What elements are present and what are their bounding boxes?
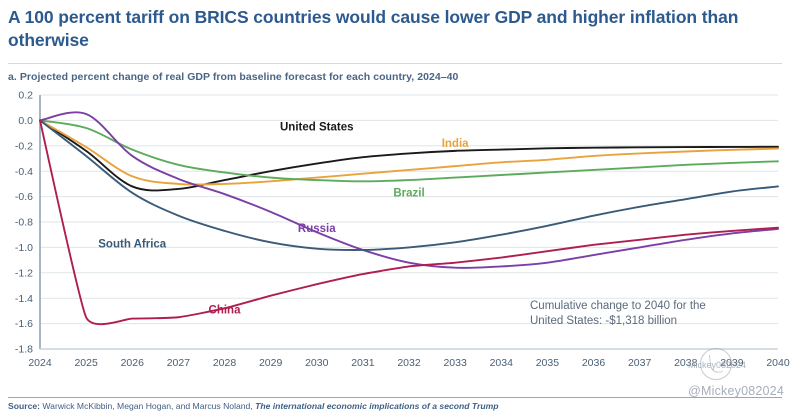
chart-header: A 100 percent tariff on BRICS countries … [0, 0, 790, 53]
annotation-line-1: Cumulative change to 2040 for the [530, 300, 706, 312]
x-tick-label: 2027 [167, 357, 191, 369]
y-tick-label: -0.8 [15, 216, 33, 228]
x-tick-label: 2031 [351, 357, 375, 369]
y-tick-label: 0.2 [18, 89, 33, 101]
x-tick-label: 2030 [305, 357, 329, 369]
chart-plot-area: 0.20.0-0.2-0.4-0.6-0.8-1.0-1.2-1.4-1.6-1… [0, 87, 790, 387]
panel-subtitle: a. Projected percent change of real GDP … [0, 64, 790, 83]
x-tick-label: 2024 [28, 357, 52, 369]
series-label-united-states: United States [280, 121, 354, 133]
line-chart-svg: 0.20.0-0.2-0.4-0.6-0.8-1.0-1.2-1.4-1.6-1… [0, 87, 790, 387]
series-label-russia: Russia [298, 223, 336, 235]
x-tick-label: 2037 [628, 357, 652, 369]
page-title: A 100 percent tariff on BRICS countries … [8, 6, 778, 53]
x-tick-label: 2036 [582, 357, 606, 369]
y-tick-label: -0.2 [15, 140, 33, 152]
source-title: The international economic implications … [255, 401, 498, 411]
x-tick-label: 2034 [490, 357, 514, 369]
x-tick-label: 2032 [397, 357, 421, 369]
y-tick-label: -1.6 [15, 318, 33, 330]
series-label-south-africa: South Africa [98, 238, 167, 250]
y-tick-label: -1.8 [15, 343, 33, 355]
x-tick-label: 2033 [443, 357, 467, 369]
source-note: Source: Warwick McKibbin, Megan Hogan, a… [0, 398, 790, 412]
x-tick-label: 2028 [213, 357, 237, 369]
cumulative-change-annotation: Cumulative change to 2040 for theUnited … [530, 300, 706, 327]
series-label-brazil: Brazil [393, 187, 424, 199]
x-tick-label: 2035 [536, 357, 560, 369]
x-axis-ticks: 2024202520262027202820292030203120322033… [28, 357, 790, 369]
series-line-south-africa [40, 120, 778, 250]
x-tick-label: 2040 [766, 357, 790, 369]
series-label-china: China [209, 304, 242, 316]
chart-footer: Source: Warwick McKibbin, Megan Hogan, a… [0, 397, 790, 412]
annotation-line-2: United States: -$1,318 billion [530, 315, 677, 327]
y-tick-label: 0.0 [18, 115, 33, 127]
y-tick-label: -1.4 [15, 292, 33, 304]
y-tick-label: -0.6 [15, 191, 33, 203]
y-tick-label: -0.4 [15, 165, 33, 177]
data-series-lines [40, 112, 778, 324]
y-tick-label: -1.2 [15, 267, 33, 279]
x-tick-label: 2038 [674, 357, 698, 369]
x-tick-label: 2029 [259, 357, 283, 369]
series-inline-labels: United StatesIndiaBrazilRussiaSouth Afri… [98, 121, 469, 316]
series-label-india: India [442, 138, 469, 150]
y-axis-ticks: 0.20.0-0.2-0.4-0.6-0.8-1.0-1.2-1.4-1.6-1… [15, 89, 33, 355]
x-tick-label: 2026 [121, 357, 145, 369]
source-authors: Warwick McKibbin, Megan Hogan, and Marcu… [42, 401, 252, 411]
y-tick-label: -1.0 [15, 242, 33, 254]
series-line-brazil [40, 120, 778, 181]
x-tick-label: 2039 [720, 357, 744, 369]
x-tick-label: 2025 [74, 357, 98, 369]
chart-page: A 100 percent tariff on BRICS countries … [0, 0, 790, 412]
source-keyword: Source: [8, 401, 40, 411]
